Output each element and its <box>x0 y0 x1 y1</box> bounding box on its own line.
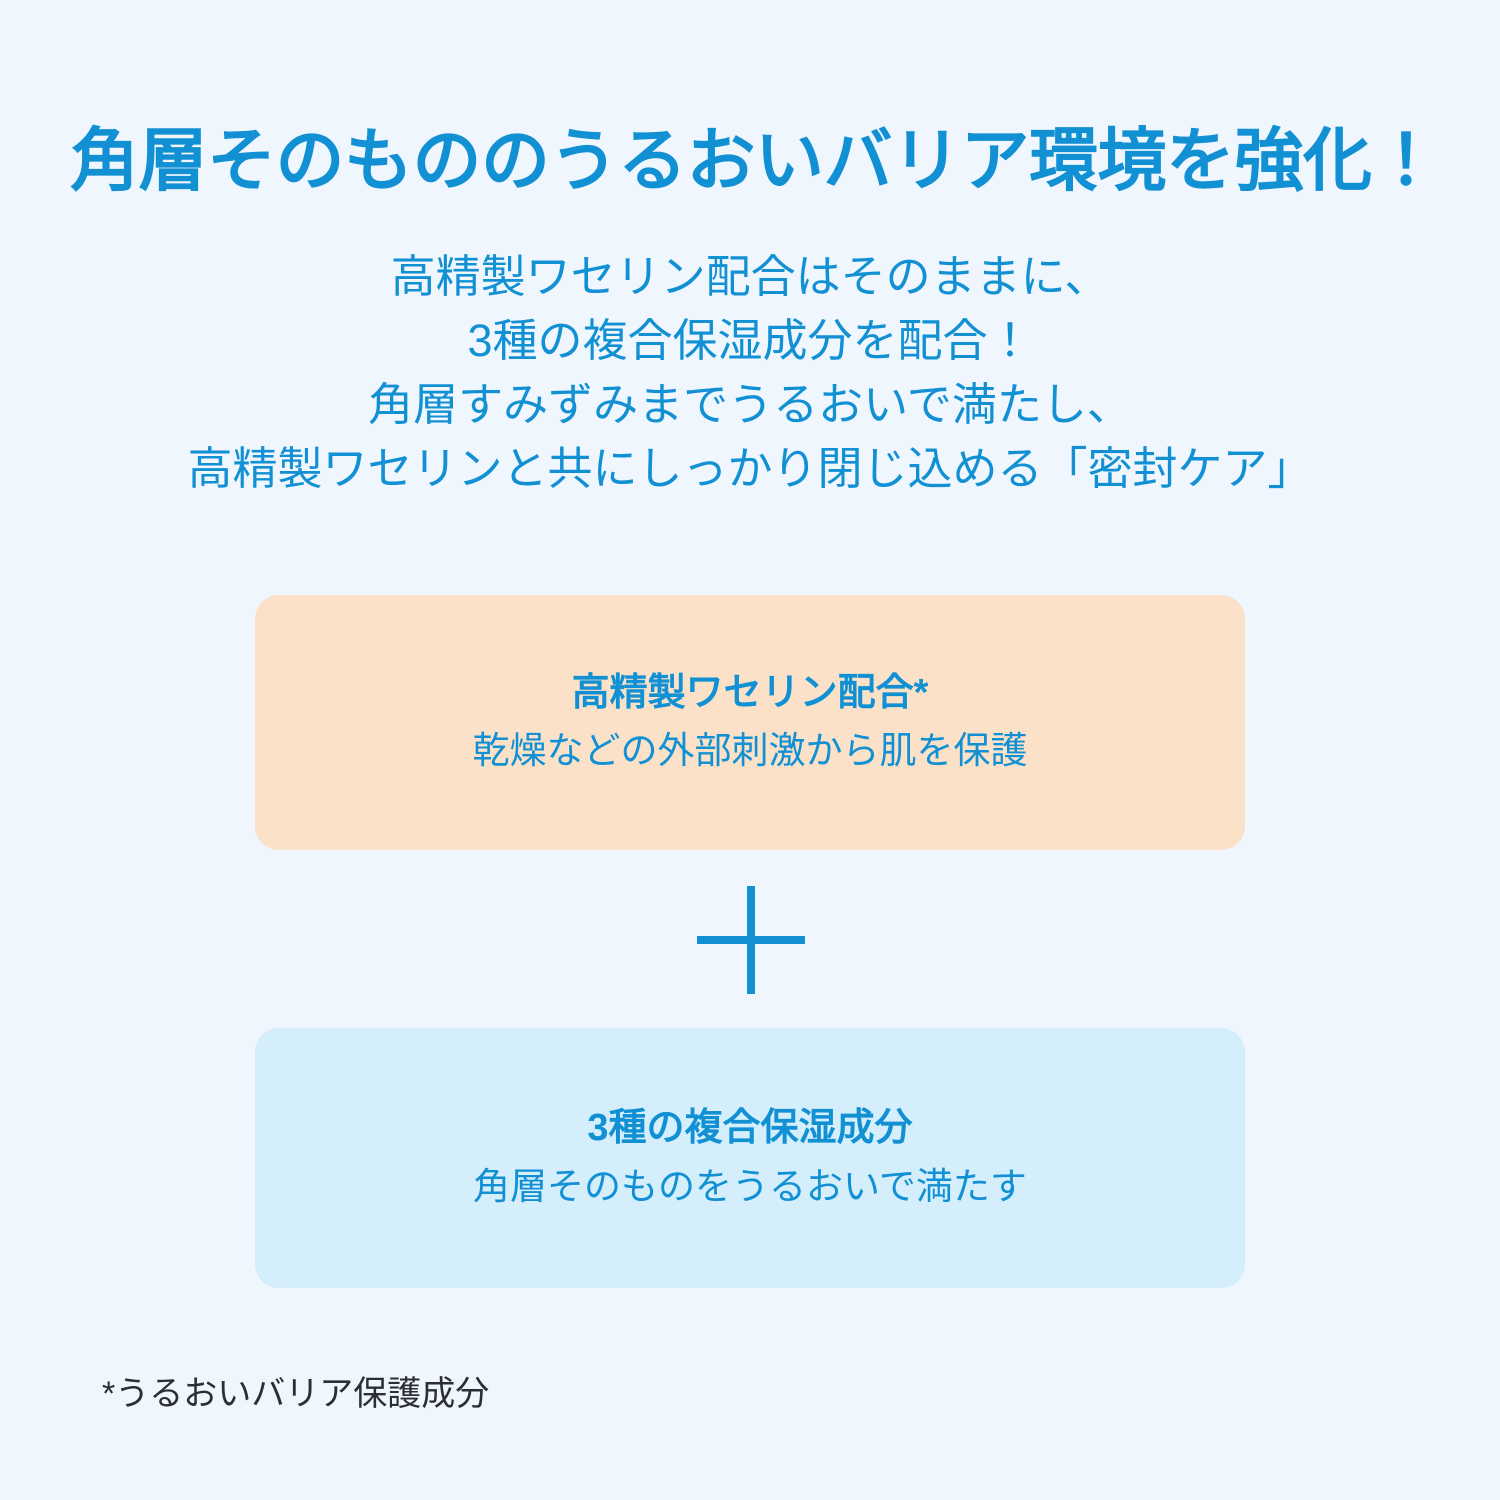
card-title-moisturizer: 3種の複合保湿成分 <box>587 1105 912 1153</box>
plus-icon <box>697 886 805 994</box>
promo-graphic: 角層そのもののうるおいバリア環境を強化！ 高精製ワセリン配合はそのままに、 3種… <box>0 0 1500 1500</box>
intro-line-1: 高精製ワセリン配合はそのままに、 <box>0 245 1500 309</box>
page-title: 角層そのもののうるおいバリア環境を強化！ <box>70 124 1450 199</box>
plus-icon-vertical-bar <box>747 886 755 994</box>
card-subtitle-moisturizer: 角層そのものをうるおいで満たす <box>473 1163 1027 1211</box>
intro-line-4: 高精製ワセリンと共にしっかり閉じ込める「密封ケア」 <box>0 437 1500 501</box>
intro-paragraph: 高精製ワセリン配合はそのままに、 3種の複合保湿成分を配合！ 角層すみずみまでう… <box>0 245 1500 501</box>
card-title-vaseline: 高精製ワセリン配合* <box>572 670 929 718</box>
footnote: *うるおいバリア保護成分 <box>102 1366 489 1415</box>
ingredient-card-vaseline: 高精製ワセリン配合* 乾燥などの外部刺激から肌を保護 <box>255 595 1245 850</box>
ingredient-card-moisturizer: 3種の複合保湿成分 角層そのものをうるおいで満たす <box>255 1028 1245 1288</box>
intro-line-2: 3種の複合保湿成分を配合！ <box>0 309 1500 373</box>
intro-line-3: 角層すみずみまでうるおいで満たし、 <box>0 373 1500 437</box>
card-subtitle-vaseline: 乾燥などの外部刺激から肌を保護 <box>473 727 1028 775</box>
